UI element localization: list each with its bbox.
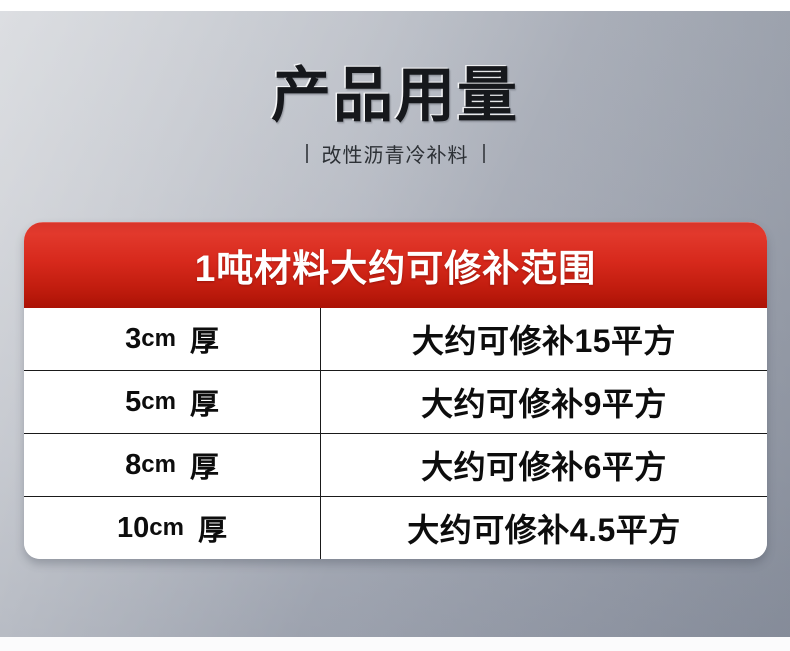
cell-coverage: 大约可修补15平方 bbox=[321, 308, 767, 370]
usage-table-card: 1吨材料大约可修补范围 3cm厚 大约可修补15平方 5cm厚 大约可修补9平方… bbox=[24, 222, 767, 559]
thickness-value: 10 bbox=[117, 512, 149, 545]
thickness-value: 5 bbox=[125, 386, 141, 419]
usage-table: 3cm厚 大约可修补15平方 5cm厚 大约可修补9平方 8cm厚 大约可修补6… bbox=[24, 308, 767, 559]
thickness-label: 厚 bbox=[190, 381, 219, 423]
cell-thickness: 8cm厚 bbox=[24, 434, 321, 496]
bottom-white-strip bbox=[0, 637, 790, 651]
page-subtitle: 改性沥青冷补料 bbox=[322, 139, 469, 168]
thickness-unit: cm bbox=[141, 451, 176, 479]
thickness-value: 8 bbox=[125, 449, 141, 482]
product-usage-page: 产品用量 改性沥青冷补料 1吨材料大约可修补范围 3cm厚 大约可修补15平方 … bbox=[0, 0, 790, 651]
cell-thickness: 3cm厚 bbox=[24, 308, 321, 370]
table-row: 8cm厚 大约可修补6平方 bbox=[24, 433, 767, 496]
thickness-label: 厚 bbox=[198, 507, 227, 549]
subtitle-left-bar-icon bbox=[306, 144, 308, 163]
page-title: 产品用量 bbox=[0, 64, 790, 127]
cell-thickness: 10cm厚 bbox=[24, 497, 321, 559]
table-row: 5cm厚 大约可修补9平方 bbox=[24, 370, 767, 433]
usage-table-header-title: 1吨材料大约可修补范围 bbox=[195, 238, 597, 292]
thickness-unit: cm bbox=[141, 325, 176, 353]
usage-table-header: 1吨材料大约可修补范围 bbox=[24, 222, 767, 308]
cell-thickness: 5cm厚 bbox=[24, 371, 321, 433]
cell-coverage: 大约可修补4.5平方 bbox=[321, 497, 767, 559]
subtitle-row: 改性沥青冷补料 bbox=[0, 139, 790, 168]
table-row: 10cm厚 大约可修补4.5平方 bbox=[24, 496, 767, 559]
top-white-strip bbox=[0, 0, 790, 11]
thickness-label: 厚 bbox=[190, 318, 219, 360]
page-header: 产品用量 改性沥青冷补料 bbox=[0, 64, 790, 168]
thickness-value: 3 bbox=[125, 323, 141, 356]
table-row: 3cm厚 大约可修补15平方 bbox=[24, 308, 767, 370]
cell-coverage: 大约可修补6平方 bbox=[321, 434, 767, 496]
thickness-unit: cm bbox=[149, 514, 184, 542]
thickness-label: 厚 bbox=[190, 444, 219, 486]
subtitle-right-bar-icon bbox=[483, 144, 485, 163]
cell-coverage: 大约可修补9平方 bbox=[321, 371, 767, 433]
thickness-unit: cm bbox=[141, 388, 176, 416]
